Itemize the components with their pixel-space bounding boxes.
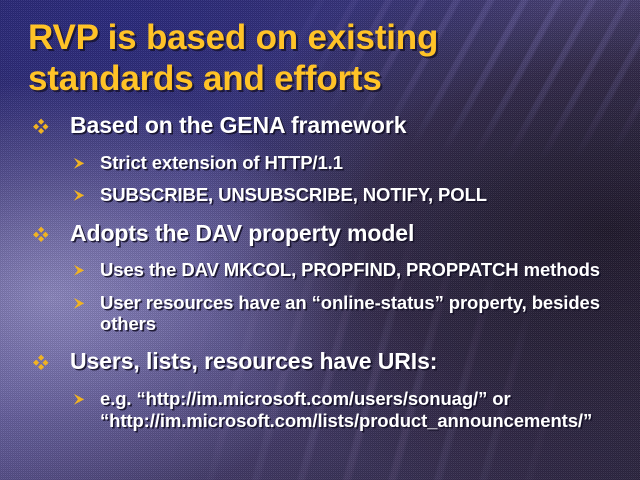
diamond-cluster-bullet-icon (33, 119, 48, 134)
bullet-text: Uses the DAV MKCOL, PROPFIND, PROPPATCH … (100, 259, 600, 280)
list-spacer (0, 210, 640, 220)
list-spacer (0, 177, 640, 184)
diamond-cluster-bullet-icon (33, 227, 48, 242)
diamond-cluster-bullet-icon (33, 355, 48, 370)
slide-title: RVP is based on existing standards and e… (28, 18, 588, 99)
arrow-bullet-icon (72, 296, 87, 311)
bullet-item-level2: Strict extension of HTTP/1.1 (0, 152, 640, 173)
slide-content: RVP is based on existing standards and e… (0, 0, 640, 480)
bullet-list: Based on the GENA framework Strict exten… (0, 112, 640, 435)
bullet-text: Adopts the DAV property model (70, 220, 414, 246)
list-spacer (0, 338, 640, 348)
list-spacer (0, 145, 640, 152)
presentation-slide: RVP is based on existing standards and e… (0, 0, 640, 480)
bullet-text: User resources have an “online-status” p… (100, 292, 600, 334)
bullet-text: Based on the GENA framework (70, 112, 406, 138)
bullet-item-level2: User resources have an “online-status” p… (0, 292, 640, 335)
arrow-bullet-icon (72, 188, 87, 203)
arrow-bullet-icon (72, 156, 87, 171)
bullet-item-level2: Uses the DAV MKCOL, PROPFIND, PROPPATCH … (0, 259, 640, 280)
bullet-text: SUBSCRIBE, UNSUBSCRIBE, NOTIFY, POLL (100, 184, 487, 205)
arrow-bullet-icon (72, 392, 87, 407)
bullet-item-level1: Adopts the DAV property model (0, 220, 640, 248)
bullet-text: Users, lists, resources have URIs: (70, 348, 437, 374)
list-spacer (0, 285, 640, 292)
bullet-item-level1: Based on the GENA framework (0, 112, 640, 140)
bullet-text: e.g. “http://im.microsoft.com/users/sonu… (100, 388, 592, 430)
bullet-item-level2: e.g. “http://im.microsoft.com/users/sonu… (0, 388, 640, 431)
arrow-bullet-icon (72, 263, 87, 278)
list-spacer (0, 252, 640, 259)
bullet-text: Strict extension of HTTP/1.1 (100, 152, 343, 173)
list-spacer (0, 381, 640, 388)
bullet-item-level2: SUBSCRIBE, UNSUBSCRIBE, NOTIFY, POLL (0, 184, 640, 205)
bullet-item-level1: Users, lists, resources have URIs: (0, 348, 640, 376)
